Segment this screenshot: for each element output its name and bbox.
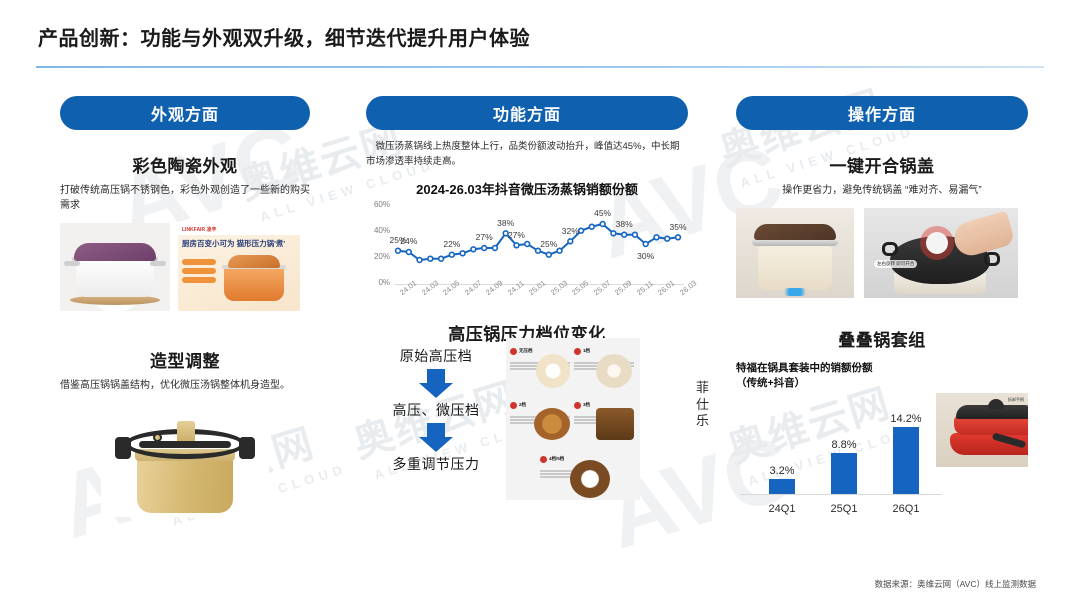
data-point-marker: [568, 239, 573, 244]
bar-chart-title-line2: （传统+抖音）: [736, 377, 805, 389]
brand-label-fissler: 菲仕乐: [696, 380, 710, 429]
food-photo: [570, 460, 610, 498]
flow-step-3: 多重调节压力: [372, 454, 500, 474]
pot-handle-right: [150, 261, 166, 266]
operation-photo-row: 左右旋转 即可开合: [736, 208, 1028, 298]
food-photo: [596, 408, 634, 440]
douyin-share-line-chart: 60% 40% 20% 0% 25%24%22%27%38%27%25%32%4…: [366, 204, 688, 316]
data-point-label: 27%: [508, 230, 525, 240]
photo-caption: 左右旋转 即可开合: [874, 260, 917, 268]
orange-pot-lid: [228, 255, 280, 268]
pressure-flow: 原始高压档 高压、微压档 多重调节压力: [372, 346, 500, 474]
data-point-marker: [460, 251, 465, 256]
line-chart-plot: 25%24%22%27%38%27%25%32%45%38%30%35%: [394, 204, 684, 284]
operation-block2-heading: 叠叠锅套组: [736, 326, 1028, 351]
level-badge-icon: [574, 348, 581, 355]
bar-chart-title: 特福在锅具套装中的销额份额 （传统+抖音）: [736, 361, 932, 391]
data-point-label: 25%: [540, 239, 557, 249]
operation-block-1: 一键开合锅盖 操作更省力，避免传统锅盖 “难对齐、易漏气” 左右旋转 即可开合: [736, 152, 1028, 298]
appearance-block1-heading: 彩色陶瓷外观: [60, 152, 310, 177]
gold-pot-body: [137, 457, 233, 513]
appearance-block1-desc: 打破传统高压锅不锈钢色，彩色外观创造了一些新的购买需求: [60, 183, 310, 213]
hand-photo: [950, 211, 1015, 260]
menu-cell-label: 3档: [583, 402, 590, 408]
appearance-block-1: 彩色陶瓷外观 打破传统高压锅不锈钢色，彩色外观创造了一些新的购买需求 LINKF…: [60, 152, 310, 311]
menu-cell-1: 1档: [574, 342, 634, 371]
data-point-marker: [449, 253, 454, 258]
appearance-block-2: 造型调整 借鉴高压锅锅盖结构，优化微压汤锅整体机身造型。: [60, 347, 310, 517]
level-badge-icon: [540, 456, 547, 463]
data-point-label: 32%: [562, 226, 579, 236]
data-point-marker: [396, 249, 401, 254]
pot-handle-left: [64, 261, 80, 266]
flow-arrow-2: [372, 420, 500, 454]
bar-chart-wrap: 特福在锅具套装中的销额份额 （传统+抖音） 3.2%24Q18.8%25Q114…: [736, 351, 932, 517]
ad-chip-3: [182, 277, 216, 283]
data-point-label: 27%: [476, 232, 493, 242]
flow-arrow-1: [372, 366, 500, 400]
data-point-marker: [525, 242, 530, 247]
lid-handle-left: [882, 242, 898, 256]
gold-lid-bar: [139, 441, 231, 448]
data-point-marker: [439, 257, 444, 262]
data-point-marker: [643, 242, 648, 247]
y-tick-0: 0%: [366, 278, 390, 287]
pot-brown-lid: [754, 224, 836, 240]
y-tick-60: 60%: [366, 200, 390, 209]
line-series-path: [398, 224, 678, 260]
data-point-marker: [600, 222, 605, 227]
y-tick-40: 40%: [366, 226, 390, 235]
bar-category-label: 25Q1: [831, 503, 858, 515]
gold-pressure-valve: [153, 433, 162, 442]
data-point-label: 24%: [400, 236, 417, 246]
level-badge-icon: [574, 402, 581, 409]
data-point-marker: [665, 237, 670, 242]
menu-cell-label: 无压档: [519, 348, 533, 354]
data-point-marker: [633, 233, 638, 238]
bar-category-label: 26Q1: [893, 503, 920, 515]
line-chart-x-axis: 24.0124.0324.0524.0724.0924.1125.0125.03…: [394, 288, 688, 316]
food-photo: [534, 408, 570, 440]
operation-block1-heading: 一键开合锅盖: [736, 152, 1028, 177]
gold-lid-knob: [177, 421, 195, 441]
data-source-footer: 数据来源：奥维云网（AVC）线上监测数据: [875, 578, 1036, 590]
pressure-level-menu-card: 无压档 1档 2档 3档: [506, 338, 640, 500]
line-chart-title: 2024-26.03年抖音微压汤蒸锅销额份额: [366, 179, 688, 198]
data-point-label: 22%: [443, 239, 460, 249]
bar-and-photo-row: 特福在锅具套装中的销额份额 （传统+抖音） 3.2%24Q18.8%25Q114…: [736, 351, 1028, 517]
red-stackable-pan-set-photo: 拆卸手柄: [936, 393, 1028, 467]
data-point-marker: [579, 229, 584, 234]
data-point-marker: [493, 246, 498, 251]
operation-block-2: 叠叠锅套组 特福在锅具套装中的销额份额 （传统+抖音） 3.2%24Q18.8%…: [736, 326, 1028, 517]
line-chart-svg: [394, 204, 684, 284]
pot-body: [76, 257, 154, 297]
data-point-marker: [514, 243, 519, 248]
function-intro-text: 微压汤蒸锅线上热度整体上行，品类份额波动抬升，峰值达45%，中长期市场渗透率持续…: [366, 140, 688, 169]
orange-pot-body: [224, 267, 284, 301]
menu-cell-0: 无压档: [510, 342, 570, 371]
purple-lid-white-pot-photo: [60, 223, 170, 311]
bar-24Q1: [769, 479, 795, 494]
ad-headline: 厨房百变小可为 猫形压力锅'煮': [182, 239, 285, 249]
orange-pot-ad-photo: LINKFAIR 凌丰 厨房百变小可为 猫形压力锅'煮': [178, 223, 300, 311]
menu-cell-label: 1档: [583, 348, 590, 354]
stove-flame: [780, 288, 810, 296]
menu-cell-2: 2档: [510, 396, 570, 425]
data-point-label: 35%: [669, 222, 686, 232]
data-point-label: 38%: [616, 219, 633, 229]
flow-step-1: 原始高压档: [372, 346, 500, 366]
column-function: 功能方面 微压汤蒸锅线上热度整体上行，品类份额波动抬升，峰值达45%，中长期市场…: [366, 96, 688, 508]
menu-cell-4: 4档/5档: [540, 450, 602, 479]
photo-caption: 拆卸手柄: [1008, 397, 1024, 403]
page-title: 产品创新：功能与外观双升级，细节迭代提升用户体验: [38, 22, 530, 51]
data-point-marker: [611, 231, 616, 236]
bar-25Q1: [831, 453, 857, 495]
data-point-marker: [417, 258, 422, 263]
operation-block1-desc: 操作更省力，避免传统锅盖 “难对齐、易漏气”: [736, 183, 1028, 198]
appearance-block2-heading: 造型调整: [60, 347, 310, 372]
pot-purple-lid: [74, 243, 156, 261]
bar-26Q1: [893, 427, 919, 494]
function-block-2: 高压锅压力档位变化 原始高压档 高压、微压档 多重调节压力 无压档: [366, 330, 688, 508]
lid-handle-right: [984, 252, 1000, 266]
flow-step-2: 高压、微压档: [372, 400, 500, 420]
data-point-marker: [589, 225, 594, 230]
appearance-block2-desc: 借鉴高压锅锅盖结构，优化微压汤锅整体机身造型。: [60, 378, 310, 393]
data-point-marker: [406, 250, 411, 255]
data-point-marker: [428, 257, 433, 262]
data-point-marker: [546, 253, 551, 258]
appearance-photo-row: LINKFAIR 凌丰 厨房百变小可为 猫形压力锅'煮': [60, 223, 310, 311]
data-point-label: 38%: [497, 218, 514, 228]
data-point-marker: [654, 235, 659, 240]
ad-chip-1: [182, 259, 216, 265]
menu-cell-label: 4档/5档: [549, 456, 564, 462]
column-appearance: 外观方面 彩色陶瓷外观 打破传统高压锅不锈钢色，彩色外观创造了一些新的购买需求 …: [60, 96, 310, 517]
one-touch-knob: [926, 232, 948, 254]
level-badge-icon: [510, 402, 517, 409]
section-pill-appearance[interactable]: 外观方面: [60, 96, 310, 130]
tefal-share-bar-chart: 3.2%24Q18.8%25Q114.2%26Q1: [736, 395, 946, 517]
data-point-marker: [676, 235, 681, 240]
bar-value-label: 3.2%: [769, 465, 794, 477]
y-tick-20: 20%: [366, 252, 390, 261]
bar-chart-baseline: [740, 494, 942, 495]
slide-root: AVC 奥维云网 ALL VIEW CLOUD AVC 奥维云网 ALL VIE…: [0, 0, 1080, 608]
lid-knob: [988, 399, 1004, 409]
section-pill-function[interactable]: 功能方面: [366, 96, 688, 130]
data-point-marker: [471, 247, 476, 252]
section-pill-operation[interactable]: 操作方面: [736, 96, 1028, 130]
one-touch-lid-photo: 左右旋转 即可开合: [864, 208, 1018, 298]
data-point-marker: [557, 249, 562, 254]
menu-cell-3: 3档: [574, 396, 634, 425]
ad-chip-2: [182, 268, 216, 274]
beige-pressure-pot-photo: [736, 208, 854, 298]
food-photo: [596, 354, 632, 388]
title-divider: [36, 66, 1044, 68]
gold-pressure-pot-photo: [101, 405, 269, 517]
bar-value-label: 14.2%: [890, 413, 921, 425]
pot-body: [758, 246, 832, 290]
ad-brand-logo: LINKFAIR 凌丰: [182, 226, 216, 233]
page-title-text: 产品创新：功能与外观双升级，细节迭代提升用户体验: [38, 22, 530, 51]
data-point-marker: [622, 233, 627, 238]
bar-value-label: 8.8%: [831, 439, 856, 451]
menu-cell-label: 2档: [519, 402, 526, 408]
level-badge-icon: [510, 348, 517, 355]
data-point-label: 30%: [637, 251, 654, 261]
bar-chart-title-line1: 特福在锅具套装中的销额份额: [736, 362, 873, 374]
data-point-marker: [536, 249, 541, 254]
data-point-label: 45%: [594, 208, 611, 218]
bar-category-label: 24Q1: [769, 503, 796, 515]
food-photo: [536, 354, 570, 388]
data-point-marker: [482, 246, 487, 251]
column-operation: 操作方面 一键开合锅盖 操作更省力，避免传统锅盖 “难对齐、易漏气”: [736, 96, 1028, 517]
